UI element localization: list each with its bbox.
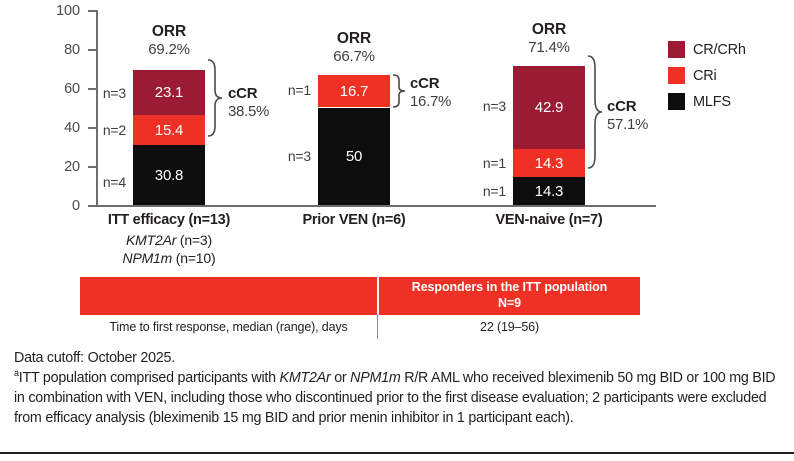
y-tick-20 [88,166,96,168]
footnotes: Data cutoff: October 2025. aITT populati… [14,348,780,428]
n-label-ven-mlfs: n=3 [273,148,311,164]
legend-swatch-cri-icon [668,67,685,84]
sub-label-kmt2ar-count: (n=3) [176,232,212,248]
legend-item-mlfs[interactable]: MLFS [668,90,746,113]
x-axis-line [96,205,656,207]
gene-kmt2ar: KMT2Ar [126,232,176,248]
n-label-itt-cri: n=2 [88,122,126,138]
ccr-brace-prior-ven [391,73,407,109]
legend-item-cri[interactable]: CRi [668,64,746,87]
category-label-ven-naive: VEN-naive (n=7) [439,212,659,228]
bar-segment-cri: 16.7 [318,75,390,108]
y-tick-0 [88,205,96,207]
ccr-value: 38.5% [228,103,308,121]
response-summary-table: Responders in the ITT population N=9 Tim… [80,277,640,339]
sub-label-npm1m: NPM1m (n=10) [59,250,279,266]
table-header-line1: Responders in the ITT population [412,280,607,296]
orr-label: ORR [489,21,609,39]
bar-segment-cri: 15.4 [133,115,205,145]
table-row-value: 22 (19–56) [379,315,640,339]
legend-swatch-mlfs-icon [668,93,685,110]
y-tick-label-20: 20 [40,159,80,175]
n-label-naive-crcrh: n=3 [468,98,506,114]
table-header-cell-left [80,277,377,315]
y-tick-100 [88,10,96,12]
orr-value: 66.7% [294,48,414,66]
ccr-brace-ven-naive [586,54,604,170]
bar-segment-mlfs: 30.8 [133,145,205,205]
bar-segment-cri: 14.3 [513,149,585,177]
legend-label-mlfs: MLFS [693,94,731,110]
y-tick-label-100: 100 [40,3,80,19]
legend-item-crcrh[interactable]: CR/CRh [668,38,746,61]
stacked-bar-chart: 100 80 60 40 20 0 30.8 15.4 23.1 n=4 n=2… [0,0,794,270]
y-tick-label-80: 80 [40,42,80,58]
y-tick-label-60: 60 [40,81,80,97]
orr-label: ORR [109,23,229,41]
gene-npm1m: NPM1m [123,250,173,266]
footnote-text-part2: or [330,370,350,386]
orr-value: 69.2% [109,41,229,59]
table-header-cell-right: Responders in the ITT population N=9 [379,277,640,315]
category-label-prior-ven: Prior VEN (n=6) [244,212,464,228]
footnote-text-part1: ITT population comprised participants wi… [19,370,280,386]
bar-segment-mlfs: 50 [318,108,390,206]
legend-swatch-crcrh-icon [668,41,685,58]
n-label-ven-cri: n=1 [273,82,311,98]
legend-label-cri: CRi [693,68,717,84]
table-row: Time to first response, median (range), … [80,315,640,339]
orr-label: ORR [294,30,414,48]
ccr-value: 57.1% [607,116,687,134]
orr-annotation-prior-ven: ORR 66.7% [294,30,414,66]
n-label-naive-mlfs: n=1 [468,183,506,199]
table-body-divider [377,315,378,339]
legend-label-crcrh: CR/CRh [693,42,746,58]
orr-annotation-itt: ORR 69.2% [109,23,229,59]
footnote-itt-population: aITT population comprised participants w… [14,368,780,428]
sub-label-npm1m-count: (n=10) [172,250,215,266]
table-header-row: Responders in the ITT population N=9 [80,277,640,315]
sub-label-kmt2ar: KMT2Ar (n=3) [59,232,279,248]
table-header-line2: N=9 [498,296,521,312]
y-tick-label-40: 40 [40,120,80,136]
ccr-label: cCR [410,75,490,93]
ccr-brace-itt [206,58,224,138]
n-label-itt-crcrh: n=3 [88,85,126,101]
bar-segment-mlfs: 14.3 [513,177,585,205]
bar-segment-crcrh: 42.9 [513,66,585,150]
footnote-data-cutoff: Data cutoff: October 2025. [14,348,780,368]
y-tick-80 [88,49,96,51]
table-row-label: Time to first response, median (range), … [80,315,377,339]
n-label-itt-mlfs: n=4 [88,174,126,190]
footnote-gene-kmt2ar: KMT2Ar [280,370,331,386]
bottom-rule [0,452,794,454]
footnote-gene-npm1m: NPM1m [350,370,400,386]
n-label-naive-cri: n=1 [468,155,506,171]
chart-legend: CR/CRh CRi MLFS [668,38,746,116]
orr-annotation-ven-naive: ORR 71.4% [489,21,609,57]
bar-segment-crcrh: 23.1 [133,70,205,115]
